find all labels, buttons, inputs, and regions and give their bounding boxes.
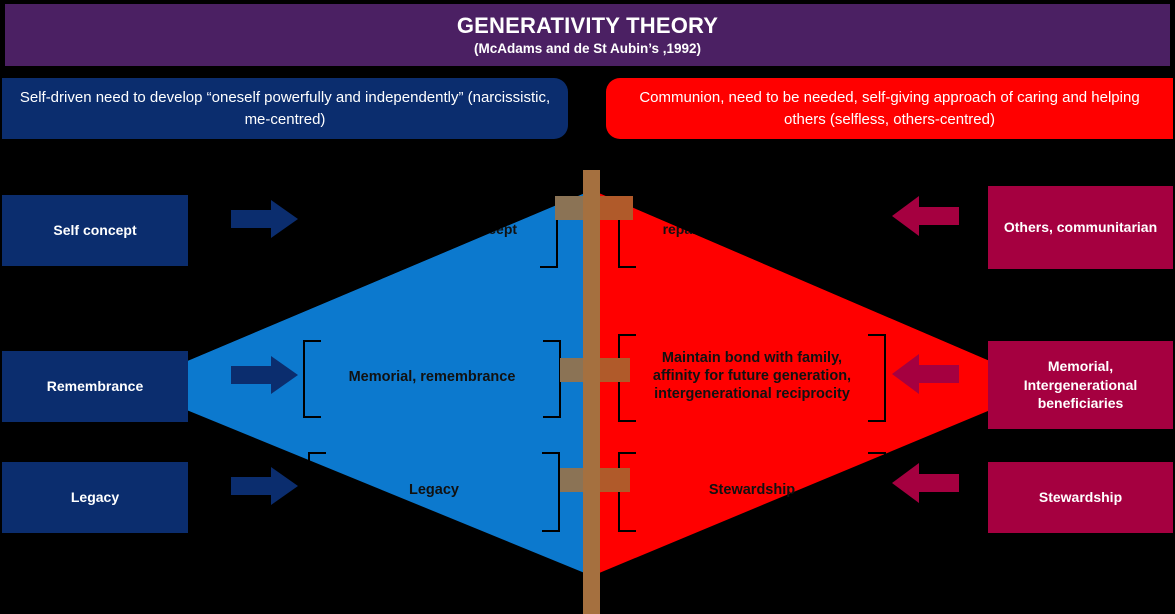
bracket-left-icon bbox=[303, 340, 321, 418]
communion-inner-row-bond: Maintain bond with family, affinity for … bbox=[618, 334, 886, 418]
communion-inner-row-reparation-label: reparation, peer pressure bbox=[641, 221, 854, 239]
sidebar-item-memorial-beneficiaries-label: Memorial, Intergenerational beneficiarie… bbox=[998, 357, 1163, 414]
sidebar-item-legacy[interactable]: Legacy bbox=[2, 462, 188, 533]
agency-description-pill: Self-driven need to develop “oneself pow… bbox=[2, 78, 568, 139]
cross-bar-top-icon bbox=[555, 196, 633, 220]
sidebar-item-memorial-beneficiaries[interactable]: Memorial, Intergenerational beneficiarie… bbox=[988, 341, 1173, 429]
agency-description-text: Self-driven need to develop “oneself pow… bbox=[18, 87, 552, 131]
agency-inner-row-self-concept-label: Self-esteem, self concept bbox=[327, 221, 539, 239]
agency-inner-row-remembrance: Memorial, remembrance bbox=[303, 340, 561, 414]
sidebar-item-stewardship[interactable]: Stewardship bbox=[988, 462, 1173, 533]
sidebar-item-self-concept-label: Self concept bbox=[53, 221, 136, 240]
bracket-right-icon bbox=[868, 452, 886, 532]
communion-inner-row-stewardship: Stewardship bbox=[618, 452, 886, 528]
bracket-right-icon bbox=[858, 196, 876, 268]
bracket-left-icon bbox=[618, 452, 636, 532]
sidebar-item-others-communitarian[interactable]: Others, communitarian bbox=[988, 186, 1173, 269]
page-citation: (McAdams and de St Aubin’s ,1992) bbox=[474, 41, 701, 56]
cross-bar-bottom-icon bbox=[560, 468, 630, 492]
communion-description-text: Communion, need to be needed, self-givin… bbox=[622, 87, 1157, 131]
agency-inner-row-legacy-label: Legacy bbox=[387, 481, 481, 499]
sidebar-item-legacy-label: Legacy bbox=[71, 488, 119, 507]
arrow-left-icon bbox=[892, 463, 959, 503]
communion-inner-row-bond-label: Maintain bond with family, affinity for … bbox=[618, 349, 886, 403]
agency-inner-row-legacy: Legacy bbox=[308, 452, 560, 528]
communion-inner-row-stewardship-label: Stewardship bbox=[687, 481, 817, 499]
bracket-left-icon bbox=[308, 196, 326, 268]
bracket-left-icon bbox=[308, 452, 326, 532]
page-title-banner: GENERATIVITY THEORY (McAdams and de St A… bbox=[5, 4, 1170, 66]
arrow-right-icon bbox=[231, 200, 298, 238]
sidebar-item-others-communitarian-label: Others, communitarian bbox=[1004, 218, 1157, 237]
bracket-right-icon bbox=[868, 334, 886, 422]
bracket-right-icon bbox=[542, 452, 560, 532]
cross-bar-middle-icon bbox=[560, 358, 630, 382]
generativity-theory-diagram: GENERATIVITY THEORY (McAdams and de St A… bbox=[0, 0, 1175, 614]
arrow-left-icon bbox=[892, 354, 959, 394]
agency-inner-row-self-concept: Self-esteem, self concept bbox=[308, 196, 558, 264]
agency-inner-row-remembrance-label: Memorial, remembrance bbox=[327, 368, 538, 386]
arrow-left-icon bbox=[892, 196, 959, 236]
communion-inner-row-reparation: reparation, peer pressure bbox=[618, 196, 876, 264]
communion-description-pill: Communion, need to be needed, self-givin… bbox=[606, 78, 1173, 139]
arrow-right-icon bbox=[231, 467, 298, 505]
sidebar-item-self-concept[interactable]: Self concept bbox=[2, 195, 188, 266]
sidebar-item-remembrance[interactable]: Remembrance bbox=[2, 351, 188, 422]
cross-post-icon bbox=[583, 170, 600, 614]
bracket-right-icon bbox=[543, 340, 561, 418]
sidebar-item-stewardship-label: Stewardship bbox=[1039, 488, 1122, 507]
page-title: GENERATIVITY THEORY bbox=[457, 14, 718, 37]
arrow-right-icon bbox=[231, 356, 298, 394]
sidebar-item-remembrance-label: Remembrance bbox=[47, 377, 144, 396]
